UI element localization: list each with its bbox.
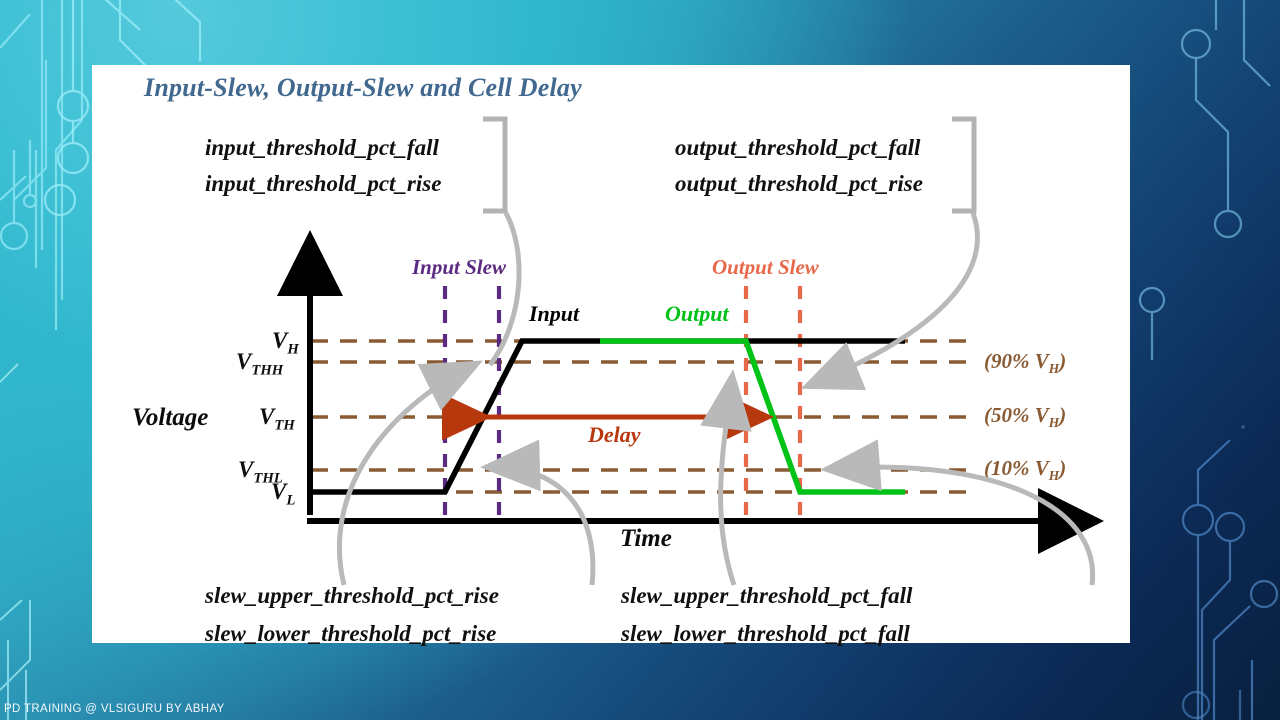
slide-footer: PD TRAINING @ VLSIGURU BY ABHAY xyxy=(4,703,225,715)
timing-diagram xyxy=(92,65,1130,643)
content-panel: Input-Slew, Output-Slew and Cell Delay i… xyxy=(92,65,1130,643)
slide-canvas: Input-Slew, Output-Slew and Cell Delay i… xyxy=(0,0,1280,720)
connector-output-threshold xyxy=(810,213,977,385)
connector-slew-fall-lower xyxy=(830,467,1093,585)
output-slew-markers xyxy=(746,286,800,520)
bracket-output-params xyxy=(952,119,974,211)
connector-curves xyxy=(339,213,1092,585)
connector-slew-rise-lower xyxy=(490,467,593,585)
chart-axes xyxy=(307,290,1044,521)
bracket-input-params xyxy=(483,119,505,211)
connector-slew-fall-upper xyxy=(721,379,734,585)
